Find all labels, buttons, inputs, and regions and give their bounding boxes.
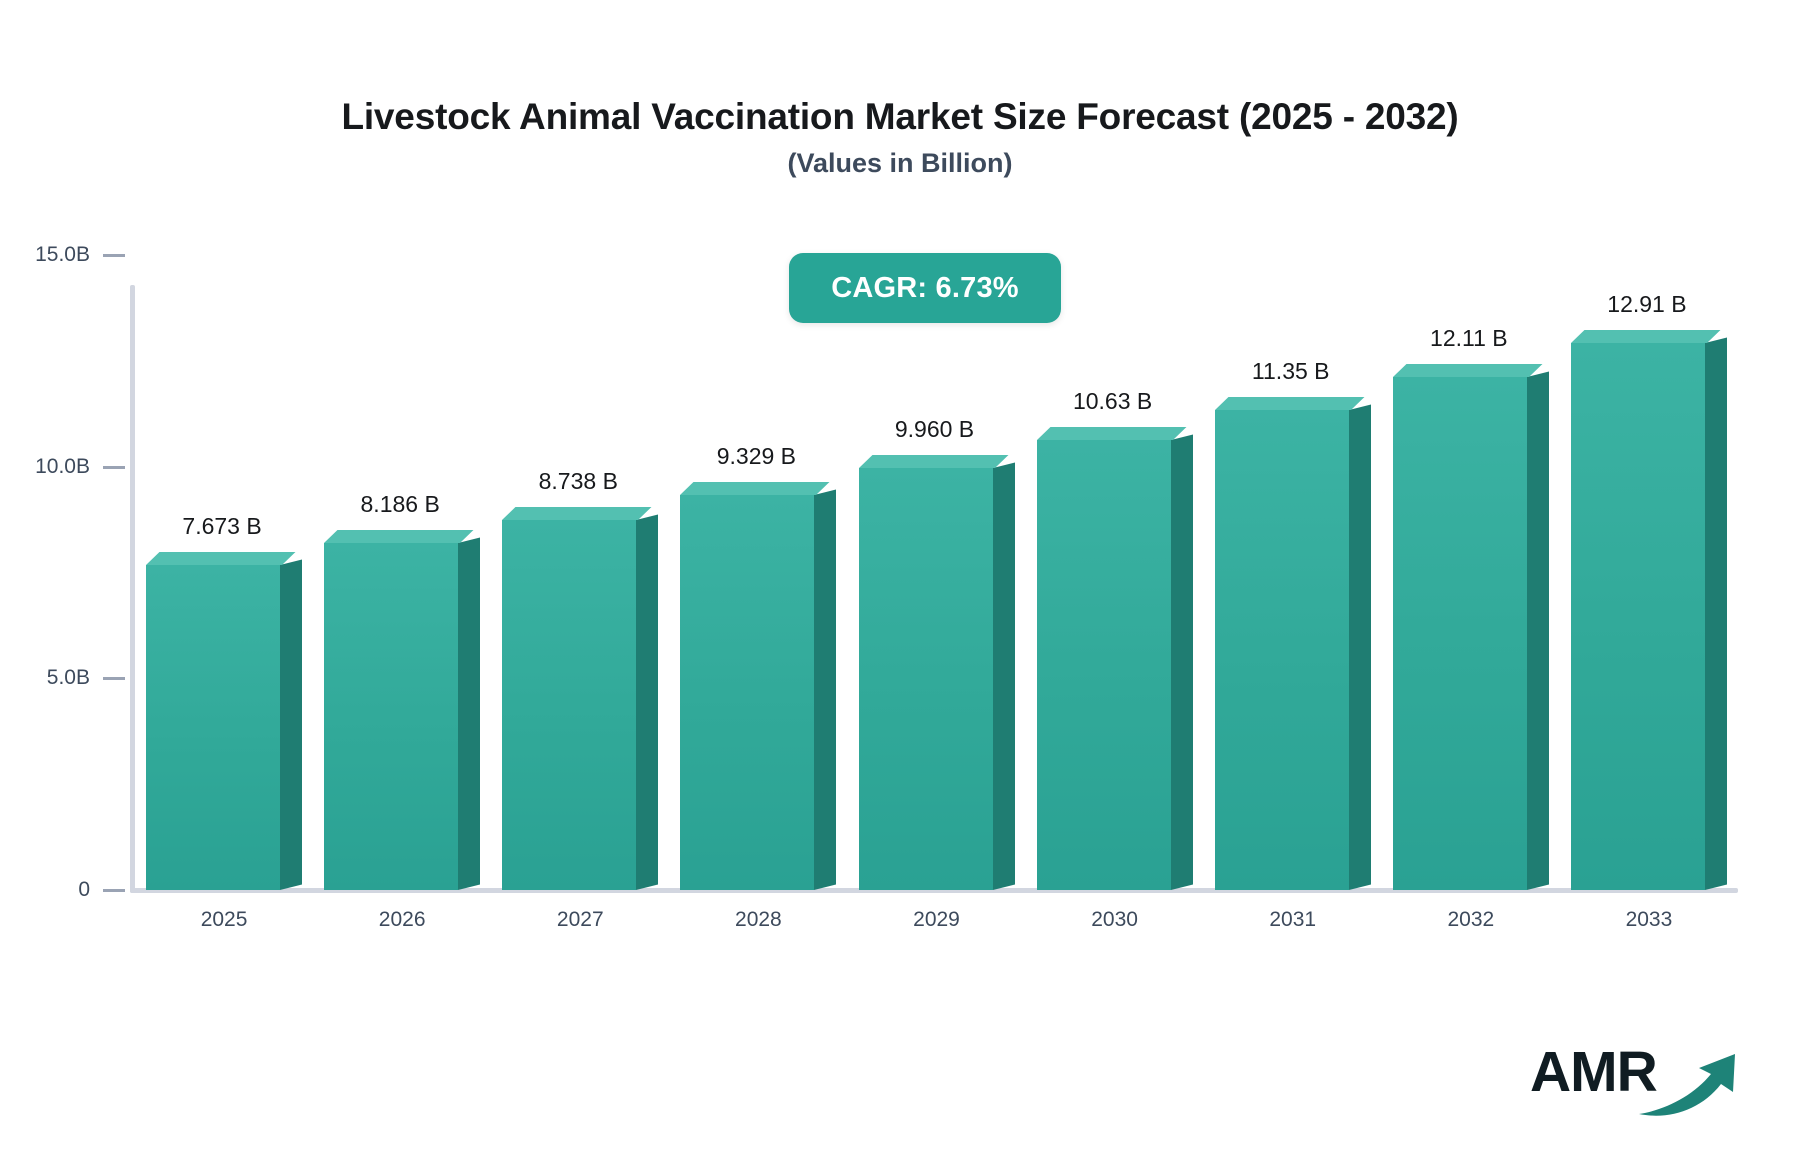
y-axis-tick [103, 254, 125, 257]
bar-front-face [1037, 440, 1171, 890]
bar [1393, 364, 1549, 890]
bar-side-face [993, 463, 1015, 890]
bar-top-face [324, 530, 474, 543]
x-axis-label: 2031 [1269, 908, 1316, 932]
bar-front-face [1571, 343, 1705, 890]
bar-side-face [1527, 372, 1549, 890]
y-axis-tick [103, 466, 125, 469]
bar-top-face [502, 507, 652, 520]
bar-value-label: 11.35 B [1252, 358, 1330, 385]
y-axis-tick-label: 15.0B [35, 243, 90, 267]
bar-top-face [146, 552, 296, 565]
bar [859, 455, 1015, 890]
x-axis-label: 2026 [379, 908, 426, 932]
bar-front-face [1215, 410, 1349, 890]
bar-chart-plot: 15.0B10.0B5.0B0 7.673 B8.186 B8.738 B9.3… [0, 0, 1800, 1156]
bar-front-face [146, 565, 280, 890]
bar-side-face [1349, 404, 1371, 890]
bar-top-face [1037, 427, 1187, 440]
bar-side-face [636, 515, 658, 890]
bar-value-label: 12.91 B [1607, 291, 1686, 318]
bar-top-face [1571, 330, 1721, 343]
bar-front-face [324, 543, 458, 890]
y-axis-tick-label: 10.0B [35, 455, 90, 479]
growth-arrow-icon [1637, 1048, 1747, 1120]
bar-value-label: 10.63 B [1073, 388, 1152, 415]
bar [1037, 427, 1193, 890]
bar-value-label: 8.738 B [539, 468, 618, 495]
bar-top-face [680, 482, 830, 495]
x-axis-label: 2032 [1447, 908, 1494, 932]
y-axis-tick-label: 0 [78, 878, 90, 902]
bar [146, 552, 302, 890]
x-axis-label: 2033 [1626, 908, 1673, 932]
bar-front-face [859, 468, 993, 890]
bar-front-face [502, 520, 636, 890]
bar-value-label: 9.960 B [895, 416, 974, 443]
bar-value-label: 12.11 B [1430, 325, 1508, 352]
bar-side-face [1171, 434, 1193, 889]
bar-side-face [280, 560, 302, 890]
bar [502, 507, 658, 890]
bar-front-face [1393, 377, 1527, 890]
amr-logo: AMR [1530, 1040, 1760, 1120]
bar-side-face [458, 538, 480, 890]
bar-top-face [859, 455, 1009, 468]
bar-top-face [1215, 397, 1365, 410]
chart-page: Livestock Animal Vaccination Market Size… [0, 0, 1800, 1156]
y-axis-tick [103, 677, 125, 680]
bar-side-face [814, 490, 836, 890]
y-axis-line [130, 285, 135, 893]
bar-front-face [680, 495, 814, 890]
bar [680, 482, 836, 890]
x-axis-label: 2027 [557, 908, 604, 932]
bar-value-label: 8.186 B [361, 491, 440, 518]
x-axis-label: 2028 [735, 908, 782, 932]
bar [1215, 397, 1371, 890]
bar-value-label: 9.329 B [717, 443, 796, 470]
y-axis-tick-label: 5.0B [47, 666, 90, 690]
y-axis-tick [103, 889, 125, 892]
bar-top-face [1393, 364, 1543, 377]
bar [1571, 330, 1727, 890]
bar [324, 530, 480, 890]
x-axis-label: 2029 [913, 908, 960, 932]
x-axis-label: 2025 [201, 908, 248, 932]
x-axis-label: 2030 [1091, 908, 1138, 932]
bar-side-face [1705, 338, 1727, 890]
bar-value-label: 7.673 B [182, 513, 261, 540]
